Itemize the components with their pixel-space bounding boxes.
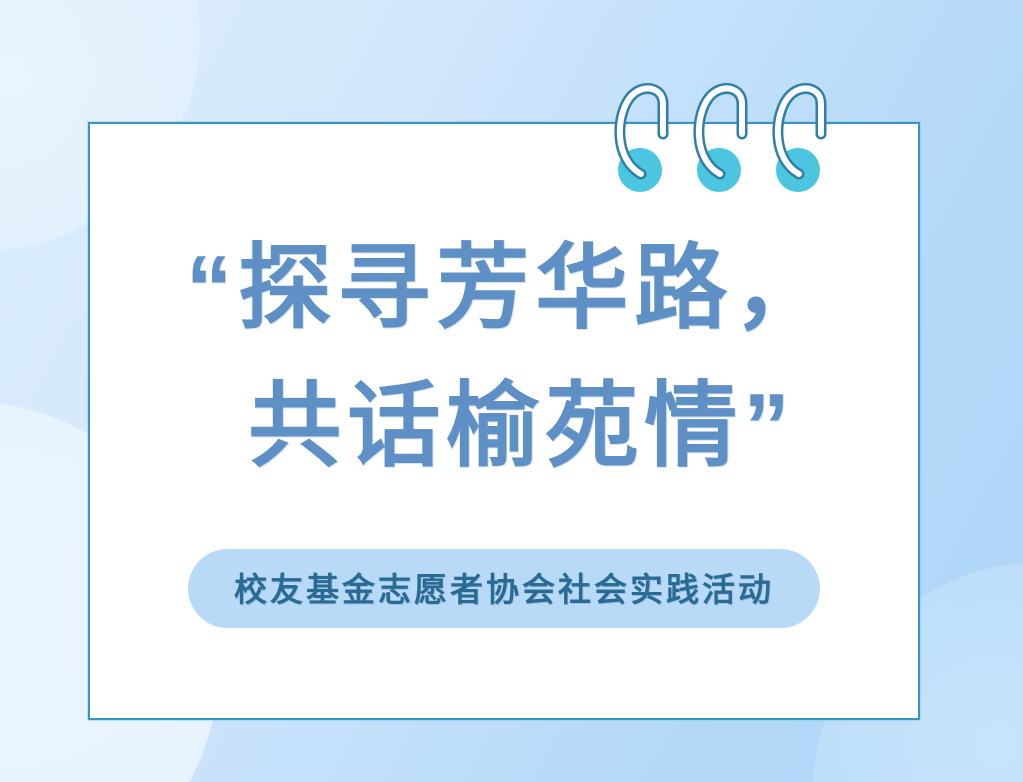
poster-canvas: “探寻芳华路， 共话榆苑情” 校友基金志愿者协会社会实践活动	[0, 0, 1023, 782]
card-content-stack: “探寻芳华路， 共话榆苑情” 校友基金志愿者协会社会实践活动	[90, 220, 918, 628]
title-line-2: 共话榆苑情”	[212, 358, 796, 496]
subtitle-pill: 校友基金志愿者协会社会实践活动	[188, 549, 820, 628]
notepad-card: “探寻芳华路， 共话榆苑情” 校友基金志愿者协会社会实践活动	[88, 122, 920, 720]
title-line-1: “探寻芳华路，	[176, 220, 833, 358]
